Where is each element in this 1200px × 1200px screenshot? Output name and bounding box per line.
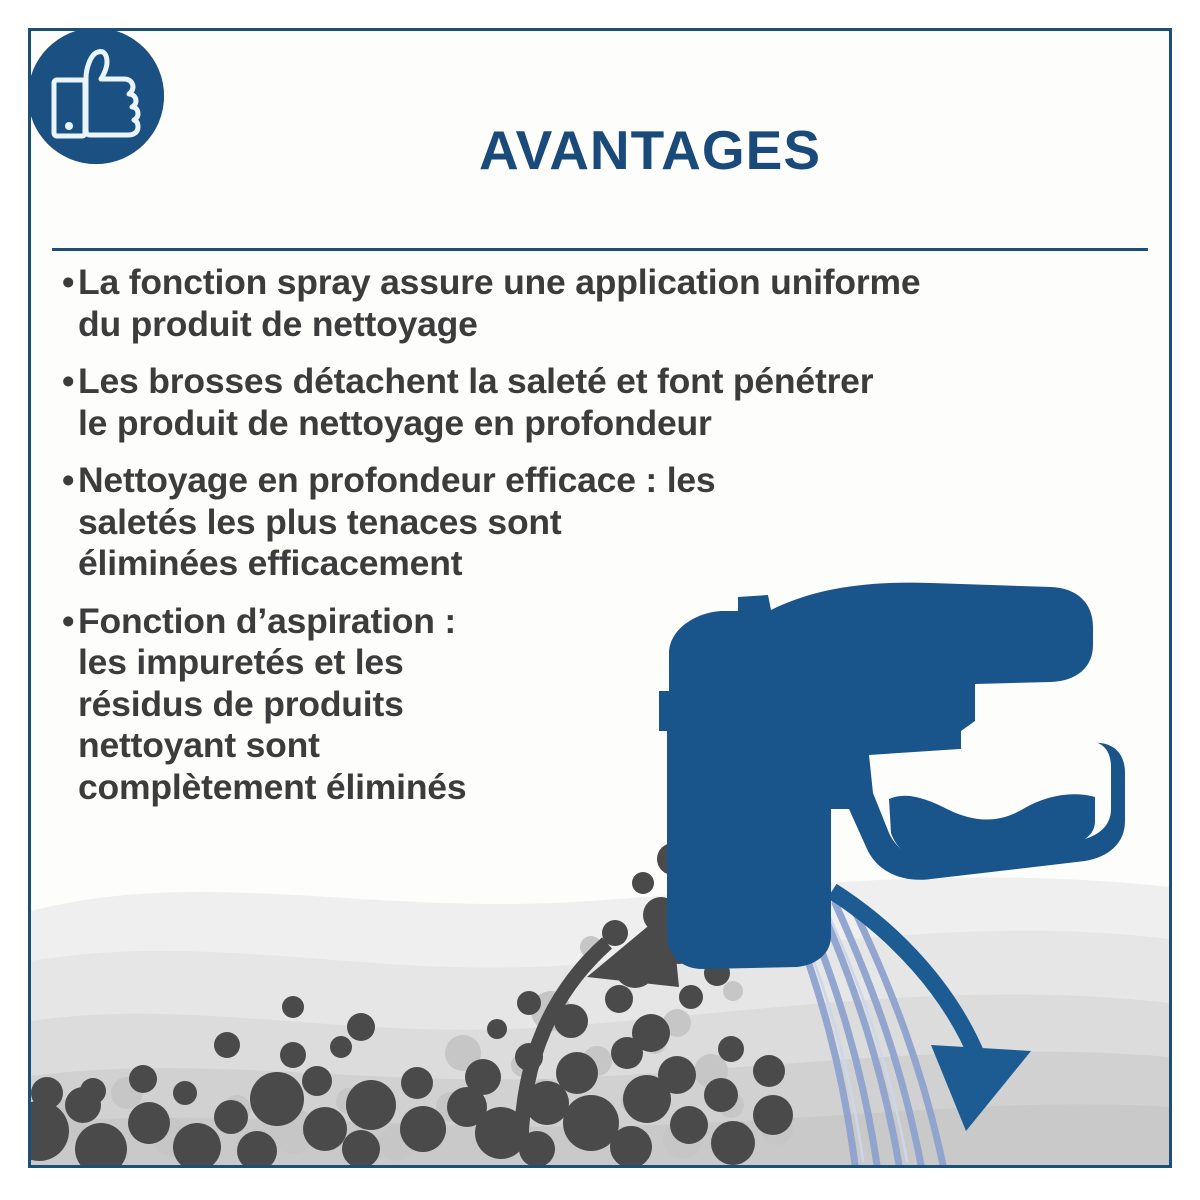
bullet-marker: • bbox=[62, 361, 74, 403]
list-item: • Nettoyage en profondeur efficace : les… bbox=[56, 460, 856, 585]
page-title: AVANTAGES bbox=[170, 118, 1130, 182]
list-item-label: Les brosses détachent la saleté et font … bbox=[56, 361, 1056, 444]
list-item: • Fonction d’aspiration : les impuretés … bbox=[56, 601, 576, 809]
list-item: • La fonction spray assure une applicati… bbox=[56, 262, 1086, 345]
list-item-label: Nettoyage en profondeur efficace : les s… bbox=[56, 460, 856, 585]
title-divider bbox=[52, 248, 1148, 251]
thumbs-up-icon bbox=[28, 28, 164, 164]
list-item-label: La fonction spray assure une application… bbox=[56, 262, 1086, 345]
advantages-list: • La fonction spray assure une applicati… bbox=[56, 262, 1106, 824]
list-item: • Les brosses détachent la saleté et fon… bbox=[56, 361, 1056, 444]
list-item-label: Fonction d’aspiration : les impuretés et… bbox=[56, 601, 576, 809]
thumbs-up-badge bbox=[28, 28, 164, 164]
bullet-marker: • bbox=[62, 601, 74, 643]
bullet-marker: • bbox=[62, 460, 74, 502]
bullet-marker: • bbox=[62, 262, 74, 304]
advantages-infographic-card: AVANTAGES • La fonction spray assure une… bbox=[0, 0, 1200, 1200]
